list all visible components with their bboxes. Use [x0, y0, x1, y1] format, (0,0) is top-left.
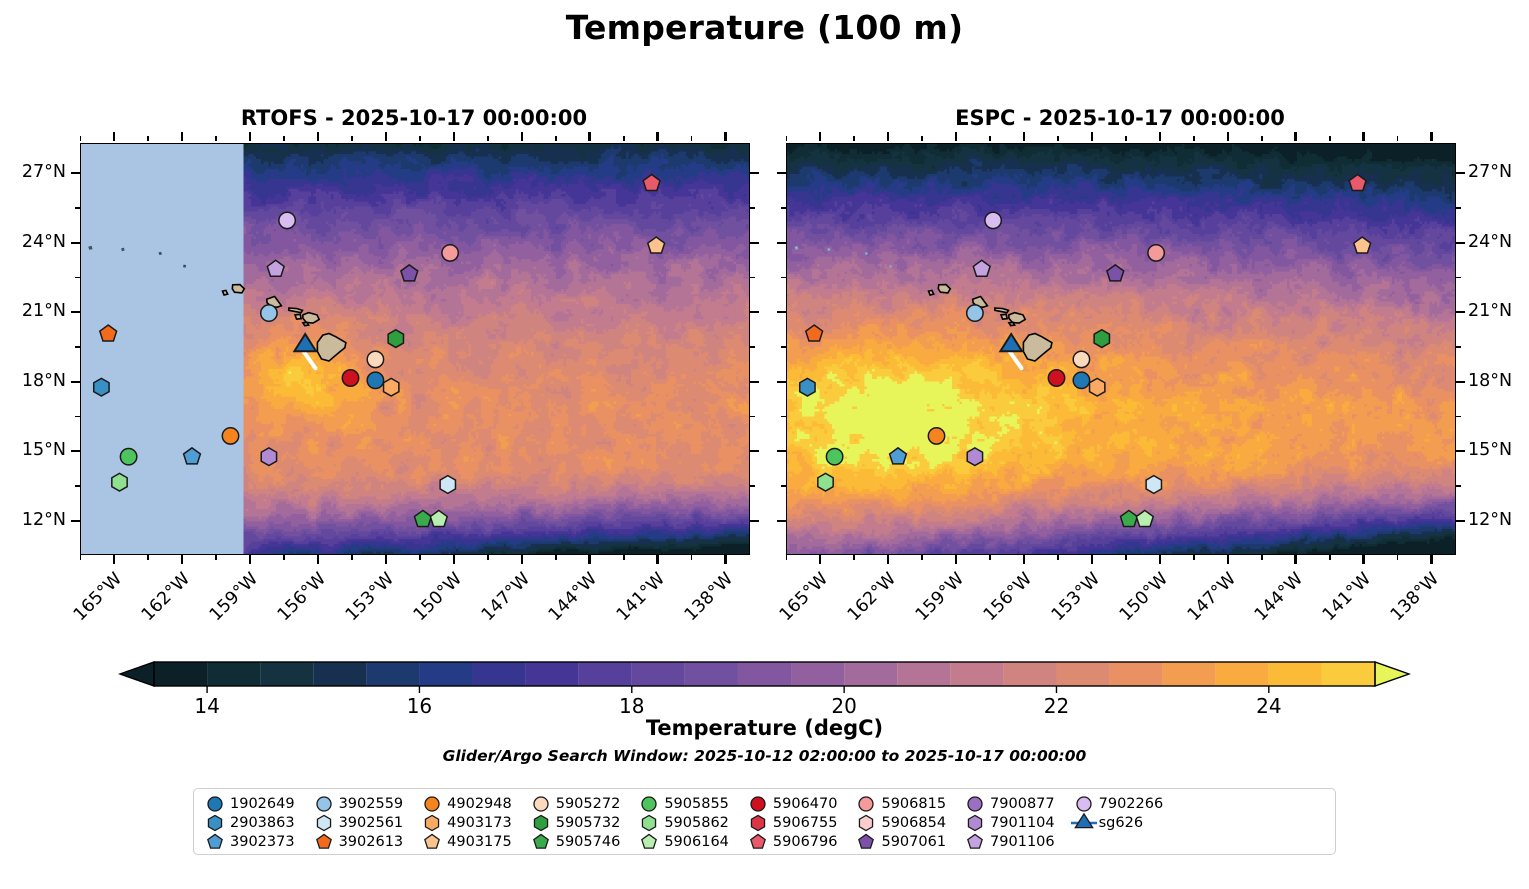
map-marker-4903173[interactable]: [1090, 378, 1105, 396]
legend-item-7902266[interactable]: 7902266: [1069, 794, 1178, 813]
legend-label: 3902373: [230, 834, 309, 850]
legend-item-3902559[interactable]: 3902559: [309, 794, 418, 813]
legend-label: 7901104: [990, 815, 1069, 831]
ytick-label-right-1: 15°N: [1468, 440, 1529, 460]
legend-label: 5906854: [881, 815, 960, 831]
map-marker-3902559[interactable]: [261, 305, 277, 321]
legend-label: 5906815: [881, 796, 960, 812]
map-marker-7902266[interactable]: [279, 212, 295, 228]
map-marker-5905272[interactable]: [367, 351, 383, 367]
legend-label: 5905272: [556, 796, 635, 812]
legend-label: 2903863: [230, 815, 309, 831]
legend-item-5906164[interactable]: 5906164: [634, 832, 743, 851]
legend-label: 5906755: [773, 815, 852, 831]
legend-marker-hexagon-icon: [417, 813, 447, 832]
legend-label: 5905732: [556, 815, 635, 831]
legend-label: 5905855: [664, 796, 743, 812]
map-rtofs[interactable]: [80, 143, 750, 555]
legend-marker-pentagon-icon: [526, 832, 556, 851]
legend-item-5906815[interactable]: 5906815: [851, 794, 960, 813]
legend-item-5905746[interactable]: 5905746: [526, 832, 635, 851]
legend-item-4903173[interactable]: 4903173: [417, 813, 526, 832]
legend-item-5905272[interactable]: 5905272: [526, 794, 635, 813]
ytick-label-left-5: 27°N: [0, 162, 66, 182]
legend-marker-pentagon-icon: [309, 832, 339, 851]
panel-title-espc: ESPC - 2025-10-17 00:00:00: [786, 106, 1454, 130]
legend-label: 4902948: [447, 796, 526, 812]
map-marker-7901104[interactable]: [967, 448, 982, 466]
legend-item-4902948[interactable]: 4902948: [417, 794, 526, 813]
legend-label: 1902649: [230, 796, 309, 812]
ytick-label-left-4: 24°N: [0, 232, 66, 252]
legend-label: 4903173: [447, 815, 526, 831]
legend-marker-pentagon-icon: [851, 832, 881, 851]
legend-label: 7901106: [990, 834, 1069, 850]
ytick-label-left-3: 21°N: [0, 301, 66, 321]
legend-label: 7902266: [1099, 796, 1178, 812]
search-window-caption: Glider/Argo Search Window: 2025-10-12 02…: [0, 747, 1529, 765]
legend-label: 5905746: [556, 834, 635, 850]
map-marker-4902948[interactable]: [222, 428, 238, 444]
legend-label: 5906164: [664, 834, 743, 850]
legend-marker-hexagon-icon: [634, 813, 664, 832]
legend-marker-triangle-icon: [1069, 813, 1099, 832]
legend-marker-hexagon-icon: [960, 813, 990, 832]
ytick-label-right-2: 18°N: [1468, 371, 1529, 391]
legend-marker-hexagon-icon: [526, 813, 556, 832]
legend-item-5906854[interactable]: 5906854: [851, 813, 960, 832]
legend-label: 5907061: [881, 834, 960, 850]
legend-marker-hexagon-icon: [200, 813, 230, 832]
map-marker-5906815[interactable]: [1148, 245, 1164, 261]
legend-item-4903175[interactable]: 4903175: [417, 832, 526, 851]
legend-marker-circle-icon: [526, 794, 556, 813]
legend-label: 3902561: [339, 815, 418, 831]
legend-item-5905732[interactable]: 5905732: [526, 813, 635, 832]
legend-marker-circle-icon: [851, 794, 881, 813]
legend-marker-circle-icon: [309, 794, 339, 813]
legend-item-3902613[interactable]: 3902613: [309, 832, 418, 851]
legend-marker-circle-icon: [200, 794, 230, 813]
colorbar-tick-1: 16: [407, 694, 432, 718]
legend-marker-circle-icon: [960, 794, 990, 813]
legend-item-5907061[interactable]: 5907061: [851, 832, 960, 851]
colorbar-tick-0: 14: [194, 694, 219, 718]
map-marker-5905272[interactable]: [1073, 351, 1089, 367]
legend-marker-pentagon-icon: [960, 832, 990, 851]
legend-marker-circle-icon: [1069, 794, 1099, 813]
legend-item-5905862[interactable]: 5905862: [634, 813, 743, 832]
map-marker-5905862[interactable]: [112, 473, 127, 491]
legend-label: 3902613: [339, 834, 418, 850]
colorbar-tick-4: 22: [1044, 694, 1069, 718]
legend-item-5905855[interactable]: 5905855: [634, 794, 743, 813]
colorbar: 141618202224: [118, 661, 1411, 687]
map-marker-7901104[interactable]: [261, 448, 276, 466]
map-marker-5905862[interactable]: [818, 473, 833, 491]
legend-marker-hexagon-icon: [743, 813, 773, 832]
map-marker-5905855[interactable]: [120, 449, 136, 465]
map-marker-7902266[interactable]: [985, 212, 1001, 228]
legend-label: 4903175: [447, 834, 526, 850]
colorbar-tick-2: 18: [619, 694, 644, 718]
legend-marker-pentagon-icon: [634, 832, 664, 851]
ytick-label-right-3: 21°N: [1468, 301, 1529, 321]
map-marker-5906815[interactable]: [442, 245, 458, 261]
map-marker-1902649[interactable]: [367, 372, 383, 388]
map-marker-5906470[interactable]: [342, 370, 358, 386]
legend-item-5906796[interactable]: 5906796: [743, 832, 852, 851]
legend-label: 5906470: [773, 796, 852, 812]
map-marker-5905732[interactable]: [388, 330, 403, 348]
legend-item-1902649[interactable]: 1902649: [200, 794, 309, 813]
legend-item-7900877[interactable]: 7900877: [960, 794, 1069, 813]
legend-marker-circle-icon: [417, 794, 447, 813]
map-marker-3902561[interactable]: [1146, 476, 1161, 494]
map-marker-3902559[interactable]: [967, 305, 983, 321]
legend-label: 3902559: [339, 796, 418, 812]
legend-item-2903863[interactable]: 2903863: [200, 813, 309, 832]
legend-item-5906755[interactable]: 5906755: [743, 813, 852, 832]
legend-label: 5905862: [664, 815, 743, 831]
legend-marker-circle-icon: [743, 794, 773, 813]
legend-item-7901104[interactable]: 7901104: [960, 813, 1069, 832]
colorbar-label: Temperature (degC): [0, 716, 1529, 740]
legend-item-5906470[interactable]: 5906470: [743, 794, 852, 813]
legend-item-sg626[interactable]: sg626: [1069, 813, 1178, 832]
legend-label: 7900877: [990, 796, 1069, 812]
ytick-label-right-4: 24°N: [1468, 232, 1529, 252]
legend-label: sg626: [1099, 815, 1157, 831]
map-marker-4902948[interactable]: [928, 428, 944, 444]
page-title: Temperature (100 m): [0, 8, 1529, 47]
legend-marker-pentagon-icon: [200, 832, 230, 851]
ytick-label-right-5: 27°N: [1468, 162, 1529, 182]
map-marker-2903863[interactable]: [94, 378, 109, 396]
legend-marker-pentagon-icon: [743, 832, 773, 851]
map-marker-1902649[interactable]: [1073, 372, 1089, 388]
map-espc[interactable]: [786, 143, 1456, 555]
ytick-label-left-0: 12°N: [0, 510, 66, 530]
map-marker-3902561[interactable]: [440, 476, 455, 494]
legend-grid: 1902649290386339023733902559390256139026…: [200, 794, 1177, 851]
ytick-label-left-2: 18°N: [0, 371, 66, 391]
colorbar-tick-5: 24: [1256, 694, 1281, 718]
colorbar-tick-3: 20: [831, 694, 856, 718]
legend-item-7901106[interactable]: 7901106: [960, 832, 1069, 851]
legend-marker-hexagon-icon: [851, 813, 881, 832]
legend-marker-circle-icon: [634, 794, 664, 813]
map-marker-5905732[interactable]: [1094, 330, 1109, 348]
map-marker-2903863[interactable]: [800, 378, 815, 396]
map-marker-5906470[interactable]: [1048, 370, 1064, 386]
legend-marker-hexagon-icon: [309, 813, 339, 832]
ytick-label-right-0: 12°N: [1468, 510, 1529, 530]
panel-title-rtofs: RTOFS - 2025-10-17 00:00:00: [80, 106, 748, 130]
ytick-label-left-1: 15°N: [0, 440, 66, 460]
legend-box: 1902649290386339023733902559390256139026…: [193, 788, 1336, 855]
map-marker-5905855[interactable]: [826, 449, 842, 465]
legend-label: 5906796: [773, 834, 852, 850]
legend-item-3902561[interactable]: 3902561: [309, 813, 418, 832]
legend-marker-pentagon-icon: [417, 832, 447, 851]
map-marker-4903173[interactable]: [384, 378, 399, 396]
legend-item-3902373[interactable]: 3902373: [200, 832, 309, 851]
